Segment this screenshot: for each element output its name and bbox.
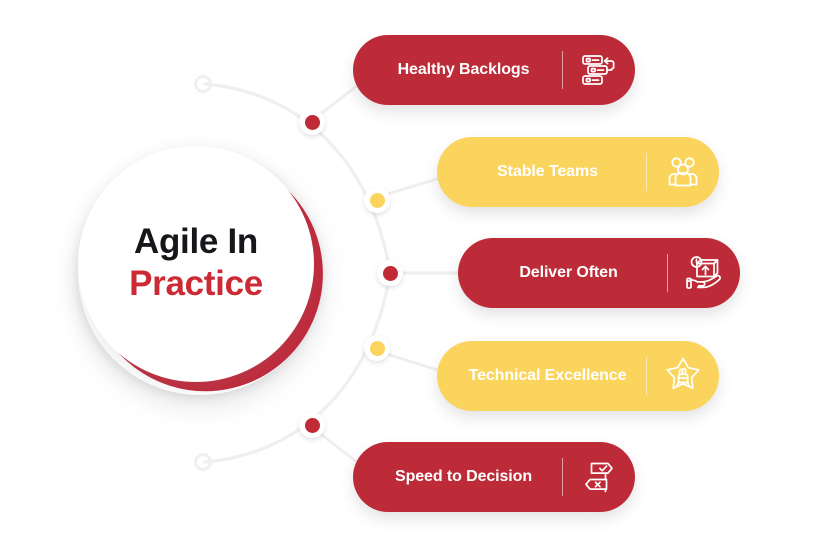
pill-speed-to-decision[interactable]: Speed to Decision (353, 442, 635, 512)
node-dot-deliver-often[interactable] (377, 260, 403, 286)
hand-delivery-box-icon (668, 254, 740, 292)
node-dot-stable-teams[interactable] (364, 187, 390, 213)
star-fist-icon (647, 356, 719, 396)
hub-face: Agile In Practice (78, 146, 314, 382)
pill-label-speed-to-decision: Speed to Decision (353, 468, 562, 486)
pill-label-deliver-often: Deliver Often (458, 264, 667, 282)
pill-healthy-backlogs[interactable]: Healthy Backlogs (353, 35, 635, 105)
pill-label-healthy-backlogs: Healthy Backlogs (353, 61, 562, 79)
pill-label-technical-excellence: Technical Excellence (437, 367, 646, 385)
hub-title-line-1: Agile In (134, 224, 258, 261)
node-dot-healthy-backlogs[interactable] (299, 109, 325, 135)
people-group-icon (647, 153, 719, 191)
infographic-canvas: Agile In Practice Healthy Backlogs S (0, 0, 820, 547)
pill-label-stable-teams: Stable Teams (437, 163, 646, 181)
node-dot-speed-to-decision[interactable] (299, 412, 325, 438)
pill-deliver-often[interactable]: Deliver Often (458, 238, 740, 308)
backlog-list-icon (563, 51, 635, 89)
node-dot-technical-excellence[interactable] (364, 335, 390, 361)
decision-signpost-icon (563, 458, 635, 496)
pill-stable-teams[interactable]: Stable Teams (437, 137, 719, 207)
pill-technical-excellence[interactable]: Technical Excellence (437, 341, 719, 411)
hub-title-line-2: Practice (129, 264, 263, 304)
